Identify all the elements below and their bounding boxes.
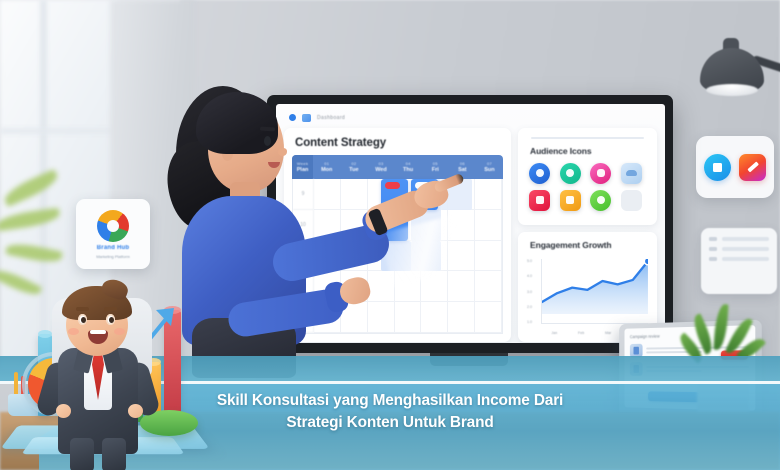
list-text-placeholder <box>722 247 769 251</box>
chart-y-axis: 5.0 4.0 3.0 2.0 1.0 <box>527 259 532 324</box>
list-bullet-icon <box>709 247 717 251</box>
mascot-leg-right <box>102 438 126 470</box>
calendar-cell[interactable] <box>421 271 448 302</box>
calendar-cell[interactable] <box>448 302 475 333</box>
calendar-column-header[interactable]: 07 Sun <box>476 155 503 179</box>
list-text-placeholder <box>722 237 769 241</box>
mascot-eyebrow-right <box>104 307 117 311</box>
brand-logo-card[interactable]: Brand Hub Marketing Platform <box>76 199 150 269</box>
mascot-pupil-right <box>109 317 114 323</box>
calendar-cell[interactable] <box>421 302 448 333</box>
mascot-cheek-left <box>68 328 79 335</box>
calendar-highlight-cell <box>411 241 441 272</box>
panel-divider <box>531 137 644 139</box>
event-badge-red-icon <box>385 182 400 189</box>
screenshot-root: Brand Hub Marketing Platform Dashboard <box>0 0 780 470</box>
cloud-icon[interactable] <box>621 163 642 184</box>
calendar-cell[interactable] <box>368 302 395 333</box>
multicolor-circle-logo-icon <box>97 210 129 242</box>
calendar-cell[interactable] <box>395 271 422 302</box>
mascot-hand-left <box>56 404 71 418</box>
lamp-bulb <box>706 84 758 96</box>
engagement-chart-title: Engagement Growth <box>530 240 648 250</box>
mascot-hand-right <box>128 404 143 418</box>
shop-icon[interactable] <box>560 190 581 211</box>
audience-panel-title: Audience Icons <box>530 146 648 156</box>
calendar-cell[interactable] <box>368 271 395 302</box>
calendar-cell[interactable] <box>475 210 502 241</box>
mascot-leg-left <box>70 438 94 470</box>
calendar-cell[interactable] <box>448 271 475 302</box>
presenter-nose <box>278 148 287 156</box>
banner-title-line1: Skill Konsultasi yang Menghasilkan Incom… <box>217 392 563 409</box>
calendar-cell[interactable] <box>475 271 502 302</box>
list-item <box>709 237 769 241</box>
window-mullion-horizontal <box>0 128 120 134</box>
banner-title: Skill Konsultasi yang Menghasilkan Incom… <box>130 390 650 435</box>
placeholder-icon[interactable] <box>621 190 642 211</box>
brand-logo-card-label: Brand Hub <box>97 245 129 251</box>
whatsapp-icon[interactable] <box>560 163 581 184</box>
pinterest-icon[interactable] <box>529 190 550 211</box>
audience-icons-panel: Audience Icons <box>518 128 657 225</box>
calendar-cell[interactable] <box>448 241 475 272</box>
pen-edit-icon[interactable] <box>739 154 766 181</box>
instagram-icon[interactable] <box>590 163 611 184</box>
list-bullet-icon <box>709 237 717 241</box>
list-text-placeholder <box>722 257 769 261</box>
list-item <box>709 257 769 261</box>
stop-circle-icon[interactable] <box>704 154 731 181</box>
list-bullet-icon <box>709 257 717 261</box>
apps-card[interactable] <box>696 136 774 198</box>
presenter-eye <box>264 136 271 146</box>
audience-icon-grid <box>527 163 648 211</box>
banner-title-line2: Strategi Konten Untuk Brand <box>130 412 650 434</box>
mascot-eyebrow-left <box>76 307 89 311</box>
list-item <box>709 247 769 251</box>
screen-right-column: Audience Icons Enga <box>518 128 657 342</box>
calendar-cell[interactable] <box>475 241 502 272</box>
mascot-pupil-left <box>81 317 86 323</box>
brand-logo-card-sublabel: Marketing Platform <box>96 254 130 259</box>
chart-plot <box>542 259 648 314</box>
businessman-mascot <box>8 288 204 470</box>
facebook-icon[interactable] <box>529 163 550 184</box>
calendar-cell[interactable] <box>395 302 422 333</box>
calendar-column-header[interactable]: 04 Thu <box>395 155 422 179</box>
phone-icon[interactable] <box>590 190 611 211</box>
mascot-cheek-right <box>114 328 125 335</box>
calendar-cell[interactable] <box>448 210 475 241</box>
calendar-cell[interactable] <box>475 179 502 210</box>
calendar-column-header[interactable]: 03 Wed <box>367 155 394 179</box>
calendar-cell[interactable] <box>475 302 502 333</box>
calendar-column-header[interactable]: 05 Fri <box>422 155 449 179</box>
list-card[interactable] <box>701 228 777 294</box>
